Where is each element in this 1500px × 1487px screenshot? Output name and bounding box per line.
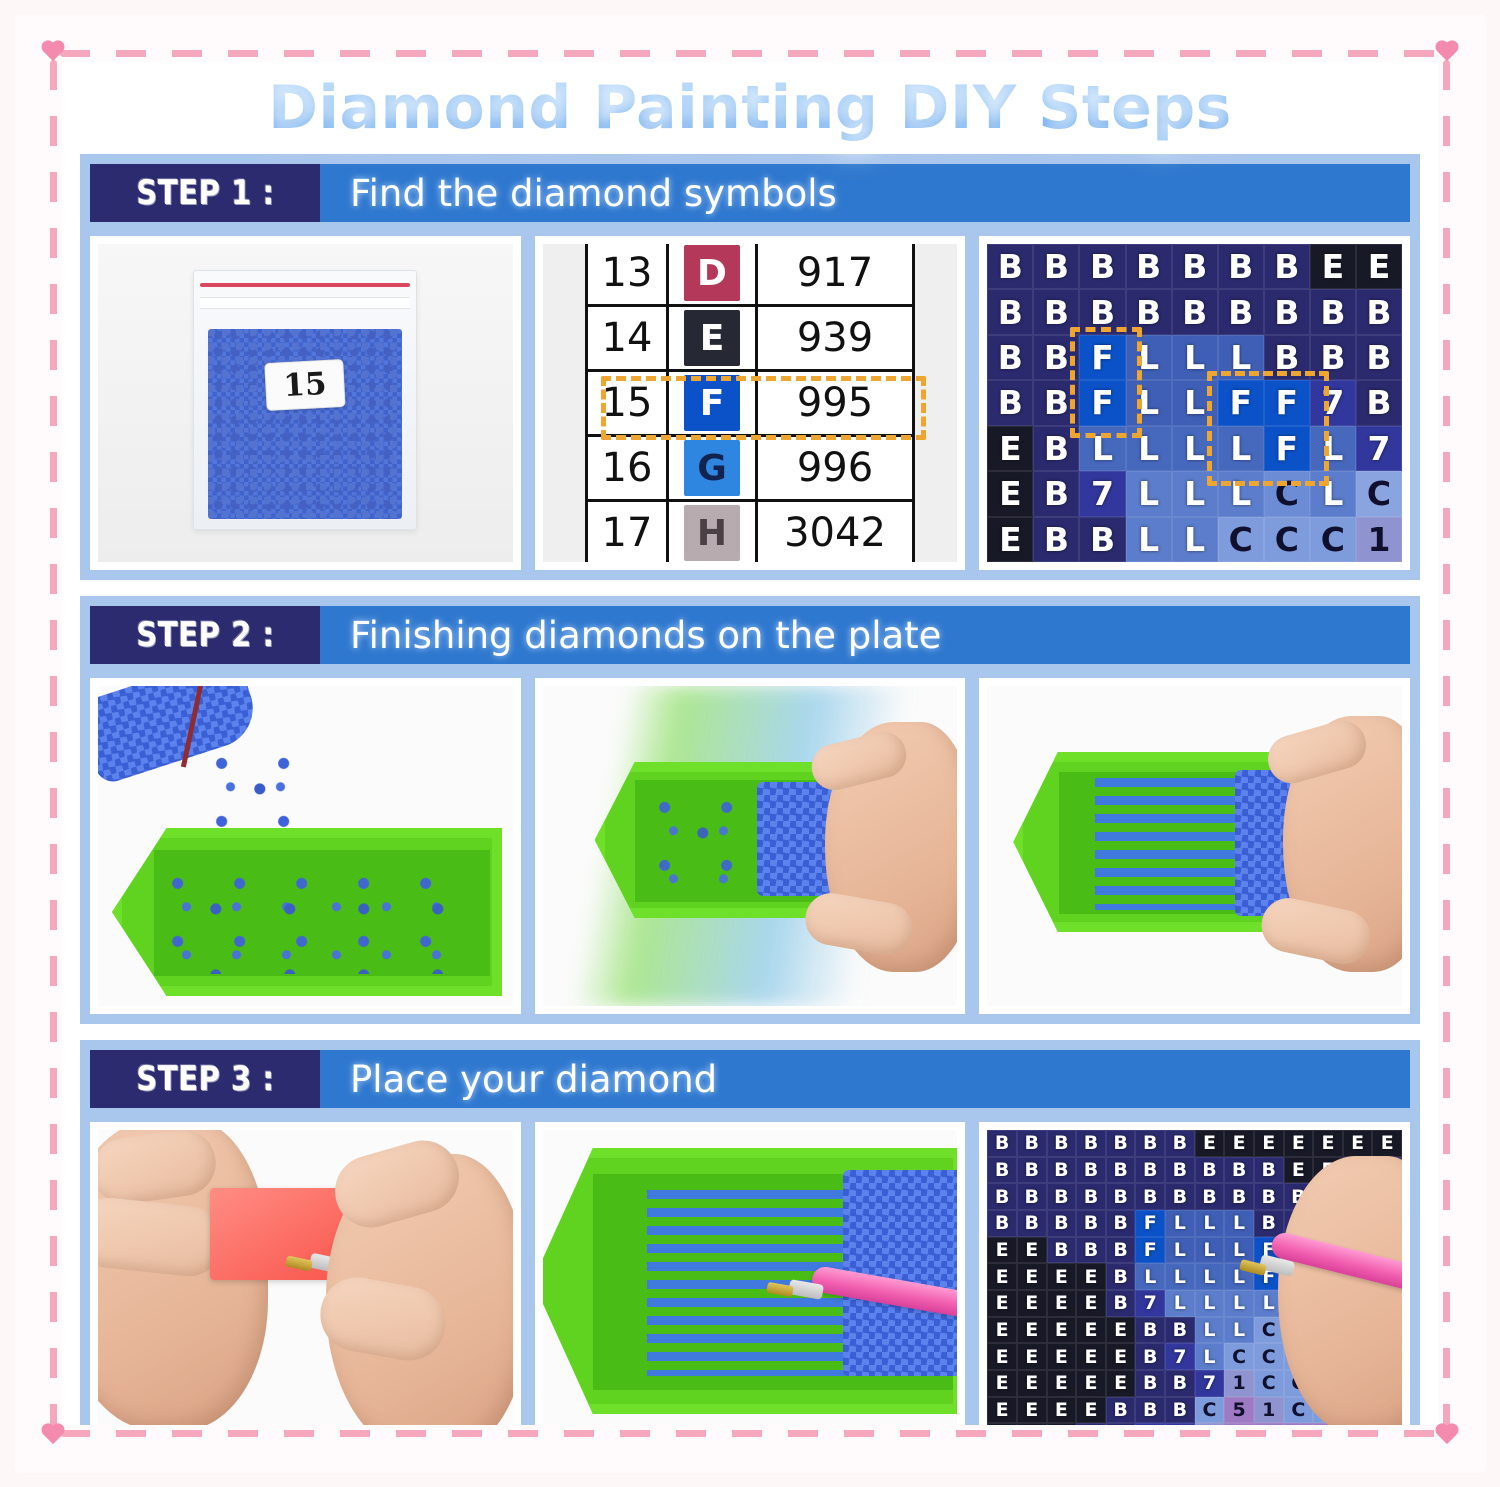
symbol-cell: L [1172,426,1218,471]
symbol-cell: B [1076,1183,1106,1210]
symbol-cell: F [1079,380,1125,425]
symbol-cell: E [1106,1343,1136,1370]
bag-number-label: 15 [265,358,347,410]
symbol-cell: L [1126,335,1172,380]
symbol-cell: B [1218,289,1264,334]
legend-row-code: 939 [757,306,914,371]
photo-background [543,1130,958,1425]
symbol-cell: E [1017,1290,1047,1317]
symbol-cell: E [987,1317,1017,1344]
symbol-cell: L [1218,471,1264,516]
symbol-cell: B [1106,1237,1136,1264]
legend-row-number: 17 [587,501,668,563]
step-section-3: STEP 3 : Place your diamond [80,1040,1420,1425]
symbol-cell: 7 [1165,1343,1195,1370]
symbol-cell: B [1135,1130,1165,1157]
step-section-1: STEP 1 : Find the diamond symbols [80,154,1420,580]
panel-shake-tray [535,678,966,1014]
symbol-cell: L [1310,426,1356,471]
symbol-cell: E [987,426,1033,471]
step-1-heading-bar: Find the diamond symbols [320,164,1410,222]
symbol-cell: 7 [1195,1370,1225,1397]
symbol-cell: E [1313,1130,1343,1157]
photo-background [543,686,958,1006]
step-2-panels [90,664,1410,1014]
symbol-cell: L [1218,426,1264,471]
symbol-cell: B [1017,1157,1047,1184]
symbol-cell: L [1165,1210,1195,1237]
symbol-cell: L [1310,471,1356,516]
symbol-cell: B [1254,1183,1284,1210]
legend-row-number: 16 [587,436,668,501]
symbol-legend-table: 13D91714E93915F99516G99617H3042 [543,244,958,562]
symbol-cell: B [1076,1210,1106,1237]
symbol-cell: E [1017,1370,1047,1397]
decorative-frame: Diamond Painting DIY Steps STEP 1 : Find… [14,14,1486,1473]
symbol-cell: E [987,471,1033,516]
symbol-cell: L [1224,1210,1254,1237]
symbol-cell: L [1195,1290,1225,1317]
symbol-chip: H [684,505,740,561]
symbol-cell: L [1195,1317,1225,1344]
symbol-cell: B [1033,517,1079,562]
legend-row: 17H3042 [587,501,914,563]
symbol-cell: B [1047,1210,1077,1237]
dashed-border-left [50,60,57,1427]
symbol-cell: L [1135,1263,1165,1290]
symbol-cell: B [987,1157,1017,1184]
symbol-cell: L [1165,1263,1195,1290]
step-3-header: STEP 3 : Place your diamond [90,1050,1410,1108]
symbol-cell: E [987,1370,1017,1397]
symbol-cell: B [1195,1157,1225,1184]
legend-wrapper: 13D91714E93915F99516G99617H3042 [543,244,958,562]
panel-legend-table: 13D91714E93915F99516G99617H3042 [535,236,966,570]
symbol-cell: 1 [1356,517,1402,562]
symbol-cell: E [1017,1263,1047,1290]
symbol-cell: E [1017,1343,1047,1370]
panel-drill-bag: 15 [90,236,521,570]
step-3-panels: BBBBBBBEEEEEEEBBBBBBBBBBEEBBBBBBBBBBBBBB… [90,1108,1410,1425]
symbol-cell: B [987,289,1033,334]
symbol-cell: F [1079,335,1125,380]
symbol-cell: L [1126,380,1172,425]
symbol-cell: B [1310,289,1356,334]
step-3-badge: STEP 3 : [90,1050,320,1108]
symbol-cell: L [1172,380,1218,425]
symbol-cell: B [987,1183,1017,1210]
legend-row-symbol: D [668,244,757,306]
symbol-cell: E [1284,1157,1314,1184]
symbol-cell: E [987,517,1033,562]
symbol-cell: 5 [1224,1423,1254,1425]
dashed-border-right [1443,60,1450,1427]
symbol-cell: B [1254,1210,1284,1237]
symbol-cell: B [1033,335,1079,380]
falling-drills [208,746,318,832]
symbol-cell: E [1076,1370,1106,1397]
step-3-heading: Place your diamond [350,1058,717,1101]
symbol-cell: F [1264,380,1310,425]
symbol-cell: L [1172,517,1218,562]
symbol-cell: B [1076,1423,1106,1425]
symbol-cell: L [1218,335,1264,380]
place-drill-photo: BBBBBBBEEEEEEEBBBBBBBBBBEEBBBBBBBBBBBBBB… [987,1130,1402,1425]
symbol-cell: F [1135,1210,1165,1237]
symbol-cell: E [1047,1317,1077,1344]
legend-row-code: 3042 [757,501,914,563]
heart-icon-bottom-left [40,1423,66,1447]
dashed-border-bottom [60,1430,1440,1437]
legend-row-code: 996 [757,436,914,501]
symbol-cell: E [1076,1397,1106,1424]
symbol-cell: L [1126,471,1172,516]
symbol-cell: B [1224,1157,1254,1184]
symbol-cell: E [1343,1130,1373,1157]
infographic-page: Diamond Painting DIY Steps STEP 1 : Find… [0,0,1500,1487]
symbol-chip: D [684,245,740,301]
title-area: Diamond Painting DIY Steps [62,62,1438,154]
symbol-cell: 5 [1284,1423,1314,1425]
symbol-cell: 7 [1135,1423,1165,1425]
step-1-heading: Find the diamond symbols [350,172,837,215]
symbol-cell: B [1047,1183,1077,1210]
symbol-cell: B [1172,244,1218,289]
legend-row: 13D917 [587,244,914,306]
symbol-cell: E [1284,1130,1314,1157]
step-2-header: STEP 2 : Finishing diamonds on the plate [90,606,1410,664]
step-3-badge-label: STEP 3 : [136,1059,274,1099]
symbol-cell: 7 [1079,471,1125,516]
symbol-cell: L [1079,426,1125,471]
panel-aligned-drills [979,678,1410,1014]
symbol-chip: G [684,440,740,496]
step-section-2: STEP 2 : Finishing diamonds on the plate [80,596,1420,1024]
symbol-cell: B [1195,1183,1225,1210]
symbol-cell: E [987,1423,1017,1425]
symbol-cell: E [1310,244,1356,289]
symbol-cell: 5 [1224,1397,1254,1424]
symbol-cell: B [1135,1343,1165,1370]
symbol-cell: 7 [1356,426,1402,471]
symbol-cell: B [1126,289,1172,334]
symbol-cell: E [1047,1423,1077,1425]
symbol-cell: E [1076,1290,1106,1317]
page-title: Diamond Painting DIY Steps [268,73,1232,143]
symbol-cell: B [1079,289,1125,334]
legend-row-number: 15 [587,371,668,436]
symbol-cell: B [1106,1263,1136,1290]
symbol-cell: C [1264,517,1310,562]
pick-drill-photo [543,1130,958,1425]
symbol-cell: B [1356,380,1402,425]
wax-pen-photo [98,1130,513,1425]
blue-drills-fill [208,329,402,519]
symbol-cell: B [1356,335,1402,380]
symbol-cell: B [1079,244,1125,289]
symbol-cell: E [987,1237,1017,1264]
symbol-cell: E [1017,1237,1047,1264]
symbol-cell: L [1224,1237,1254,1264]
symbol-cell: E [1254,1130,1284,1157]
symbol-cell: 5 [1254,1423,1284,1425]
symbol-cell: B [987,380,1033,425]
symbol-cell: B [1079,517,1125,562]
symbol-cell: L [1195,1210,1225,1237]
symbol-cell: B [1165,1183,1195,1210]
aligned-drill-rows [1095,778,1253,910]
bag-zip-strip [200,297,410,309]
symbol-cell: F [1264,426,1310,471]
bag-zip-seal [200,283,410,287]
step-1-badge: STEP 1 : [90,164,320,222]
symbol-cell: B [1017,1210,1047,1237]
symbol-cell: E [1047,1263,1077,1290]
symbol-cell: B [1165,1370,1195,1397]
legend-row-code: 995 [757,371,914,436]
symbol-cell: B [1017,1183,1047,1210]
legend-row-symbol: H [668,501,757,563]
symbol-cell: B [1224,1183,1254,1210]
pour-drills-photo [98,686,513,1006]
symbol-cell: B [1172,289,1218,334]
symbol-cell: E [1017,1397,1047,1424]
symbol-cell: E [1017,1317,1047,1344]
symbol-cell: B [987,1130,1017,1157]
symbol-grid-step1: BBBBBBBEEBBBBBBBBBBBFLLLBBBBBFLLFF7BEBLL… [987,244,1402,562]
symbol-cell: E [1017,1423,1047,1425]
symbol-cell: E [987,1290,1017,1317]
symbol-cell: B [1135,1370,1165,1397]
panel-pour-drills [90,678,521,1014]
shake-tray-photo [543,686,958,1006]
dashed-border-top [60,50,1440,57]
symbol-chip: F [684,375,740,431]
symbol-cell: 7 [1135,1290,1165,1317]
symbol-cell: B [987,1210,1017,1237]
symbol-cell: C [1264,471,1310,516]
legend-row-symbol: G [668,436,757,501]
symbol-cell: C [1218,517,1264,562]
scattered-drills-in-tray [164,866,474,974]
legend-row: 15F995 [587,371,914,436]
aligned-drills-photo [987,686,1402,1006]
symbol-cell: E [987,1263,1017,1290]
step-3-heading-bar: Place your diamond [320,1050,1410,1108]
symbol-cell: B [1076,1237,1106,1264]
symbol-cell: E [987,1343,1017,1370]
legend-row: 14E939 [587,306,914,371]
symbol-cell: B [1264,335,1310,380]
step-2-heading-bar: Finishing diamonds on the plate [320,606,1410,664]
heart-icon-top-left [40,40,66,64]
step-1-panels: 15 13D91714E93915F99516G99617H3042 [90,222,1410,570]
symbol-cell: B [1106,1130,1136,1157]
symbol-cell: B [1165,1130,1195,1157]
symbol-cell: B [1135,1317,1165,1344]
photo-background [98,1130,513,1425]
symbol-cell: B [1047,1157,1077,1184]
symbol-cell: E [1106,1370,1136,1397]
symbol-cell: B [1218,244,1264,289]
symbol-cell: F [1135,1237,1165,1264]
panel-pick-drill [535,1122,966,1425]
heart-icon-bottom-right [1434,1423,1460,1447]
symbol-cell: E [1047,1397,1077,1424]
symbol-cell: E [1224,1130,1254,1157]
symbol-cell: E [1106,1317,1136,1344]
symbol-cell: B [987,335,1033,380]
symbol-cell: L [1165,1237,1195,1264]
symbol-cell: C [1254,1370,1284,1397]
symbol-cell: B [1047,1130,1077,1157]
panel-symbol-chart: BBBBBBBEEBBBBBBBBBBBFLLLBBBBBFLLFF7BEBLL… [979,236,1410,570]
symbol-cell: B [1135,1397,1165,1424]
symbol-chip: E [684,310,740,366]
symbol-cell: B [1135,1157,1165,1184]
legend-row-symbol: F [668,371,757,436]
loose-drills [651,790,771,890]
symbol-cell: E [1356,244,1402,289]
symbol-cell: L [1195,1237,1225,1264]
step-2-badge: STEP 2 : [90,606,320,664]
symbol-cell: E [987,1397,1017,1424]
symbol-cell: B [1165,1317,1195,1344]
symbol-chart-grid: BBBBBBBEEBBBBBBBBBBBFLLLBBBBBFLLFF7BEBLL… [987,244,1402,562]
symbol-cell: C [1310,517,1356,562]
symbol-cell: C [1224,1343,1254,1370]
panel-wax-pen [90,1122,521,1425]
step-1-header: STEP 1 : Find the diamond symbols [90,164,1410,222]
legend-table: 13D91714E93915F99516G99617H3042 [585,244,915,562]
symbol-cell: B [1165,1157,1195,1184]
symbol-cell: B [1106,1397,1136,1424]
symbol-cell: B [1356,289,1402,334]
legend-row-code: 917 [757,244,914,306]
symbol-cell: B [1033,289,1079,334]
symbol-cell: C [1356,471,1402,516]
symbol-cell: B [1033,471,1079,516]
symbol-cell: L [1195,1263,1225,1290]
symbol-cell: E [1047,1343,1077,1370]
symbol-cell: E [1195,1130,1225,1157]
symbol-cell: E [1047,1370,1077,1397]
symbol-cell: E [1076,1317,1106,1344]
symbol-cell: 7 [1165,1423,1195,1425]
symbol-cell: C [1254,1343,1284,1370]
symbol-cell: B [1310,335,1356,380]
symbol-cell: 1 [1195,1423,1225,1425]
symbol-cell: E [1047,1290,1077,1317]
symbol-cell: L [1172,471,1218,516]
symbol-cell: B [1126,244,1172,289]
symbol-cell: 7 [1310,380,1356,425]
symbol-cell: L [1126,517,1172,562]
symbol-cell: B [1047,1237,1077,1264]
symbol-cell: B [1076,1130,1106,1157]
symbol-cell: C [1195,1397,1225,1424]
step-2-heading: Finishing diamonds on the plate [350,614,941,657]
symbol-cell: B [1033,380,1079,425]
legend-row-number: 13 [587,244,668,306]
symbol-cell: B [1033,244,1079,289]
symbol-cell: B [1165,1397,1195,1424]
symbol-cell: B [1254,1157,1284,1184]
content-card: Diamond Painting DIY Steps STEP 1 : Find… [62,62,1438,1425]
symbol-cell: 1 [1254,1397,1284,1424]
symbol-cell: L [1195,1343,1225,1370]
symbol-cell: L [1224,1317,1254,1344]
photo-background [98,686,513,1006]
symbol-cell: B [1106,1157,1136,1184]
symbol-cell: B [1106,1210,1136,1237]
legend-row: 16G996 [587,436,914,501]
symbol-cell: L [1172,335,1218,380]
symbol-cell: B [1033,426,1079,471]
symbol-cell: E [1372,1130,1402,1157]
symbol-cell: B [1264,244,1310,289]
step-2-badge-label: STEP 2 : [136,615,274,655]
symbol-cell: B [1106,1423,1136,1425]
symbol-cell: L [1165,1290,1195,1317]
photo-background [987,686,1402,1006]
step-1-badge-label: STEP 1 : [136,173,274,213]
ziplock-bag: 15 [193,270,417,530]
symbol-cell: L [1126,426,1172,471]
drill-bag-photo: 15 [98,244,513,562]
legend-row-symbol: E [668,306,757,371]
symbol-cell: L [1224,1290,1254,1317]
panel-place-drill: BBBBBBBEEEEEEEBBBBBBBBBBEEBBBBBBBBBBBBBB… [979,1122,1410,1425]
symbol-cell: B [1106,1183,1136,1210]
symbol-cell: E [1076,1263,1106,1290]
heart-icon-top-right [1434,40,1460,64]
symbol-cell: B [1076,1157,1106,1184]
symbol-cell: 1 [1224,1370,1254,1397]
symbol-cell: B [1135,1183,1165,1210]
symbol-cell: B [1106,1290,1136,1317]
legend-row-number: 14 [587,306,668,371]
symbol-cell: B [1017,1130,1047,1157]
symbol-cell: B [1264,289,1310,334]
symbol-cell: B [987,244,1033,289]
symbol-cell: E [1076,1343,1106,1370]
symbol-cell: F [1218,380,1264,425]
